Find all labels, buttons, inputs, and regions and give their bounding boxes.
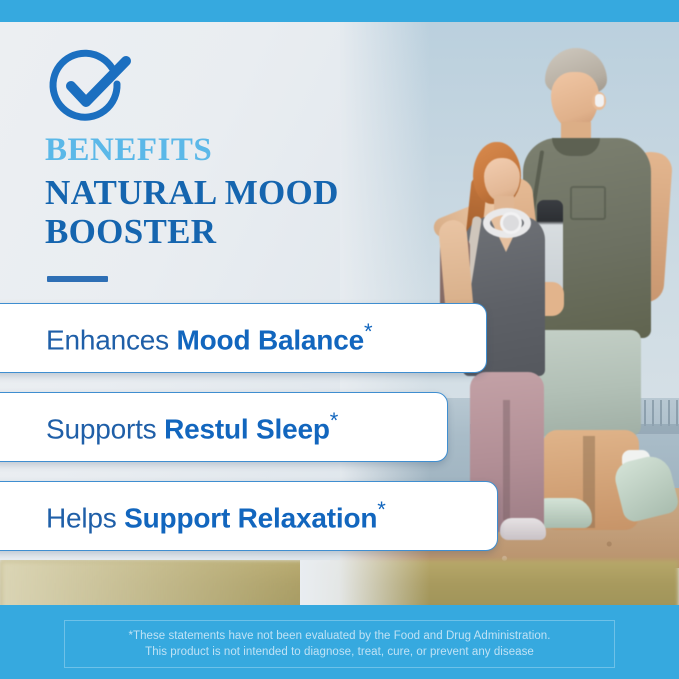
benefit-prefix: Supports (46, 414, 164, 445)
top-blue-band (0, 0, 679, 22)
benefit-card[interactable]: Enhances Mood Balance* (0, 303, 487, 373)
headline-block: BENEFITS NATURAL MOOD BOOSTER (45, 134, 425, 251)
man-shirt-pocket (570, 186, 606, 220)
benefit-card[interactable]: Supports Restul Sleep* (0, 392, 448, 462)
benefit-card[interactable]: Helps Support Relaxation* (0, 481, 498, 551)
benefit-card-text: Helps Support Relaxation* (46, 499, 386, 532)
title-underline-rule (47, 276, 108, 282)
fda-disclaimer-text: *These statements have not been evaluate… (129, 628, 551, 661)
benefit-emphasis: Mood Balance (177, 325, 364, 356)
disclaimer-box: *These statements have not been evaluate… (64, 620, 615, 668)
benefit-card-text: Enhances Mood Balance* (46, 321, 372, 354)
kicker-benefits: BENEFITS (45, 134, 425, 167)
page-title: NATURAL MOOD BOOSTER (45, 173, 425, 251)
woman-leg-shadow (503, 400, 510, 520)
benefit-asterisk: * (330, 408, 338, 433)
benefit-emphasis: Restul Sleep (164, 414, 330, 445)
benefit-emphasis: Support Relaxation (124, 503, 377, 534)
benefit-asterisk: * (377, 497, 385, 522)
benefit-card-text: Supports Restul Sleep* (46, 410, 338, 443)
man-earbud (595, 94, 604, 107)
product-benefits-infographic: BENEFITS NATURAL MOOD BOOSTER Enhances M… (0, 0, 679, 679)
benefit-prefix: Enhances (46, 325, 177, 356)
man-shorts (529, 330, 641, 436)
woman-shoe (500, 518, 546, 540)
benefit-prefix: Helps (46, 503, 124, 534)
headphone-earcup (500, 212, 522, 234)
check-circle-icon (45, 48, 133, 126)
benefit-asterisk: * (364, 319, 372, 344)
